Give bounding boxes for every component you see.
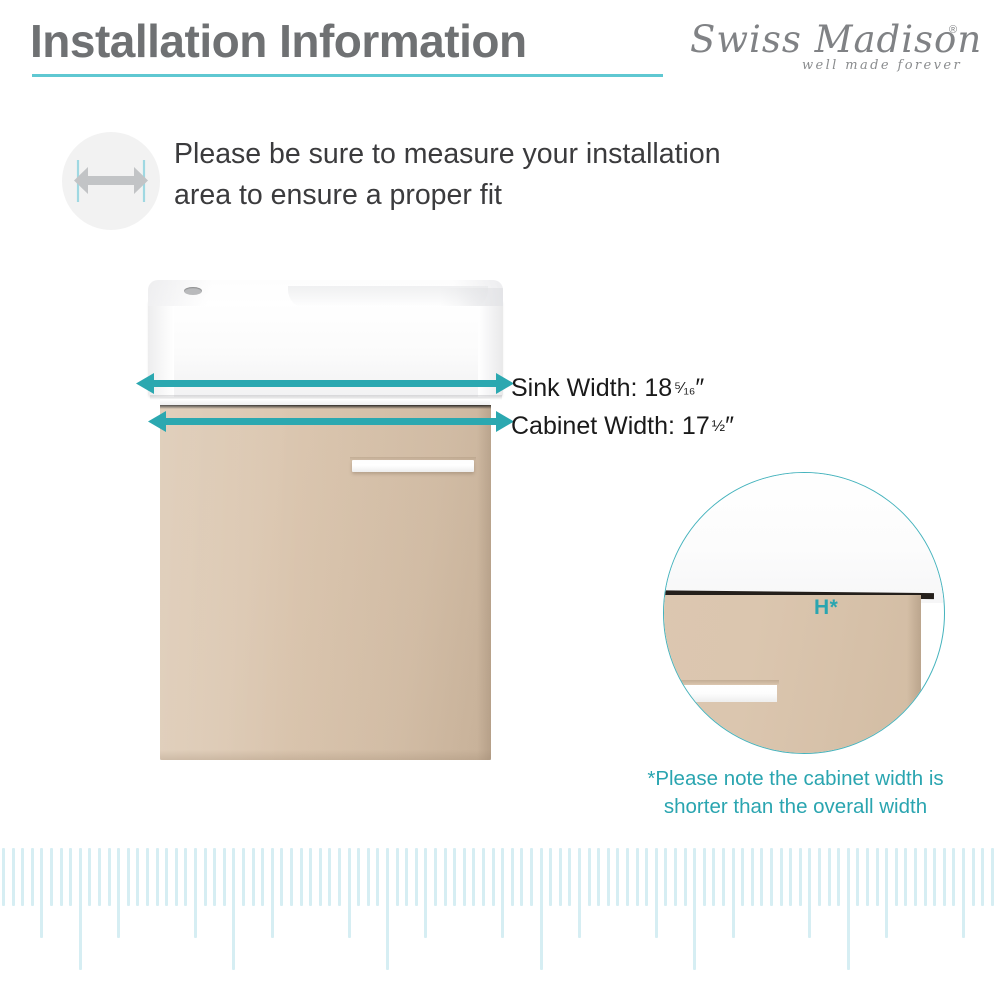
cabinet-handle xyxy=(352,460,474,472)
ruler-tick xyxy=(549,848,552,906)
ruler-tick xyxy=(952,848,955,906)
ruler-tick xyxy=(760,848,763,906)
sink-inner-rim xyxy=(440,288,503,306)
ruler-tick xyxy=(213,848,216,906)
ruler-tick xyxy=(386,848,389,970)
ruler-tick xyxy=(492,848,495,906)
ruler-tick xyxy=(424,848,427,938)
ruler-tick xyxy=(732,848,735,938)
cabinet-width-fraction: ½ xyxy=(712,409,725,444)
ruler-tick xyxy=(261,848,264,906)
ruler-tick xyxy=(511,848,514,906)
ruler-tick xyxy=(146,848,149,906)
ruler-tick xyxy=(780,848,783,906)
ruler-tick xyxy=(338,848,341,906)
ruler-tick xyxy=(280,848,283,906)
ruler-tick xyxy=(300,848,303,906)
ruler-tick xyxy=(559,848,562,906)
cabinet-right-shadow xyxy=(477,405,491,760)
ruler-tick xyxy=(165,848,168,906)
detail-cabinet-right-edge xyxy=(907,595,921,754)
ruler-tick xyxy=(904,848,907,906)
ruler-tick xyxy=(194,848,197,938)
ruler-tick xyxy=(693,848,696,970)
ruler-tick xyxy=(463,848,466,906)
ruler-tick xyxy=(290,848,293,906)
detail-inset-circle: H* xyxy=(663,472,945,754)
ruler-tick xyxy=(837,848,840,906)
double-arrow-measure-icon xyxy=(62,132,160,230)
ruler-tick xyxy=(357,848,360,906)
sink-width-value: 18 xyxy=(644,374,672,402)
ruler-tick xyxy=(789,848,792,906)
ruler-tick xyxy=(232,848,235,970)
registered-trademark-icon: ® xyxy=(949,24,957,36)
ruler-tick xyxy=(175,848,178,906)
ruler-tick xyxy=(588,848,591,906)
ruler-tick xyxy=(540,848,543,970)
footnote-line-2: shorter than the overall width xyxy=(603,793,988,821)
ruler-tick xyxy=(376,848,379,906)
sink-width-label-text: Sink Width: xyxy=(511,374,637,402)
ruler-tick xyxy=(856,848,859,906)
brand-tagline: well made forever xyxy=(802,58,962,73)
cabinet-width-label: Cabinet Width: 17½″ xyxy=(511,409,841,447)
dimension-labels: Sink Width: 18⁵⁄₁₆″ Cabinet Width: 17½″ xyxy=(511,371,841,447)
ruler-tick xyxy=(876,848,879,906)
ruler-tick xyxy=(204,848,207,906)
ruler-tick xyxy=(568,848,571,906)
ruler-tick xyxy=(741,848,744,906)
ruler-tick xyxy=(616,848,619,906)
ruler-tick xyxy=(895,848,898,906)
ruler-tick xyxy=(703,848,706,906)
ruler-tick xyxy=(117,848,120,938)
ruler-tick xyxy=(319,848,322,906)
ruler-tick xyxy=(69,848,72,906)
ruler-tick xyxy=(184,848,187,906)
cabinet-width-value: 17 xyxy=(682,412,710,440)
sink-width-unit: ″ xyxy=(695,374,704,402)
brand-logo: Swiss Madison ® well made forever xyxy=(690,18,975,80)
ruler-tick xyxy=(972,848,975,906)
ruler-tick xyxy=(156,848,159,906)
ruler-tick xyxy=(252,848,255,906)
footnote-line-1: *Please note the cabinet width is xyxy=(603,765,988,793)
ruler-tick xyxy=(674,848,677,906)
detail-cabinet xyxy=(663,595,921,754)
ruler-tick xyxy=(2,848,5,906)
ruler-tick xyxy=(808,848,811,938)
ruler-tick xyxy=(885,848,888,938)
ruler-tick xyxy=(21,848,24,906)
ruler-tick xyxy=(472,848,475,906)
ruler-tick xyxy=(664,848,667,906)
ruler-decoration xyxy=(0,848,1000,1000)
ruler-tick xyxy=(271,848,274,938)
ruler-tick xyxy=(50,848,53,906)
ruler-tick xyxy=(578,848,581,938)
ruler-tick xyxy=(799,848,802,906)
page-title: Installation Information xyxy=(30,14,527,68)
ruler-tick xyxy=(223,848,226,906)
ruler-tick xyxy=(924,848,927,906)
cabinet-width-label-text: Cabinet Width: xyxy=(511,412,675,440)
ruler-tick xyxy=(415,848,418,906)
ruler-tick xyxy=(722,848,725,906)
detail-inset-label: H* xyxy=(814,596,838,620)
cabinet-width-unit: ″ xyxy=(725,412,734,440)
ruler-tick xyxy=(501,848,504,938)
ruler-tick xyxy=(520,848,523,906)
sink-width-fraction: ⁵⁄₁₆ xyxy=(674,371,695,406)
ruler-tick xyxy=(530,848,533,906)
ruler-tick xyxy=(607,848,610,906)
ruler-tick xyxy=(60,848,63,906)
brand-name: Swiss Madison xyxy=(690,18,982,61)
ruler-tick xyxy=(655,848,658,938)
ruler-tick xyxy=(348,848,351,938)
measure-note-text: Please be sure to measure your installat… xyxy=(174,134,754,216)
cabinet-width-arrow xyxy=(142,407,520,437)
ruler-tick xyxy=(645,848,648,906)
ruler-tick xyxy=(847,848,850,970)
ruler-tick xyxy=(866,848,869,906)
ruler-tick xyxy=(818,848,821,906)
ruler-tick xyxy=(40,848,43,938)
ruler-tick xyxy=(79,848,82,970)
ruler-tick xyxy=(626,848,629,906)
cabinet-width-footnote: *Please note the cabinet width is shorte… xyxy=(603,765,988,821)
sink-width-label: Sink Width: 18⁵⁄₁₆″ xyxy=(511,371,841,409)
ruler-tick xyxy=(242,848,245,906)
detail-handle xyxy=(669,685,777,702)
ruler-tick xyxy=(396,848,399,906)
ruler-tick xyxy=(684,848,687,906)
cabinet-bottom-shadow xyxy=(160,750,491,760)
measure-note: Please be sure to measure your installat… xyxy=(62,128,762,238)
ruler-tick xyxy=(405,848,408,906)
ruler-tick xyxy=(444,848,447,906)
ruler-tick xyxy=(98,848,101,906)
ruler-tick xyxy=(136,848,139,906)
sink-width-arrow xyxy=(130,369,520,399)
ruler-tick xyxy=(636,848,639,906)
ruler-tick xyxy=(31,848,34,906)
ruler-tick xyxy=(127,848,130,906)
ruler-tick xyxy=(309,848,312,906)
ruler-tick xyxy=(597,848,600,906)
ruler-tick xyxy=(943,848,946,906)
ruler-tick xyxy=(482,848,485,906)
ruler-tick xyxy=(367,848,370,906)
detail-sink-corner xyxy=(864,472,945,603)
ruler-tick xyxy=(328,848,331,906)
vanity-illustration xyxy=(130,275,520,775)
ruler-tick xyxy=(828,848,831,906)
ruler-tick xyxy=(962,848,965,938)
ruler-tick xyxy=(88,848,91,906)
ruler-tick xyxy=(712,848,715,906)
ruler-tick xyxy=(991,848,994,906)
ruler-tick xyxy=(12,848,15,906)
ruler-tick xyxy=(434,848,437,906)
ruler-tick xyxy=(770,848,773,906)
ruler-tick xyxy=(981,848,984,906)
ruler-tick xyxy=(751,848,754,906)
faucet-hole xyxy=(184,287,202,295)
title-underline xyxy=(32,74,663,77)
sink-top-surface xyxy=(148,280,503,306)
ruler-tick xyxy=(914,848,917,906)
ruler-tick xyxy=(453,848,456,906)
page-header: Installation Information Swiss Madison ®… xyxy=(0,0,1000,95)
ruler-tick xyxy=(108,848,111,906)
ruler-tick xyxy=(933,848,936,906)
